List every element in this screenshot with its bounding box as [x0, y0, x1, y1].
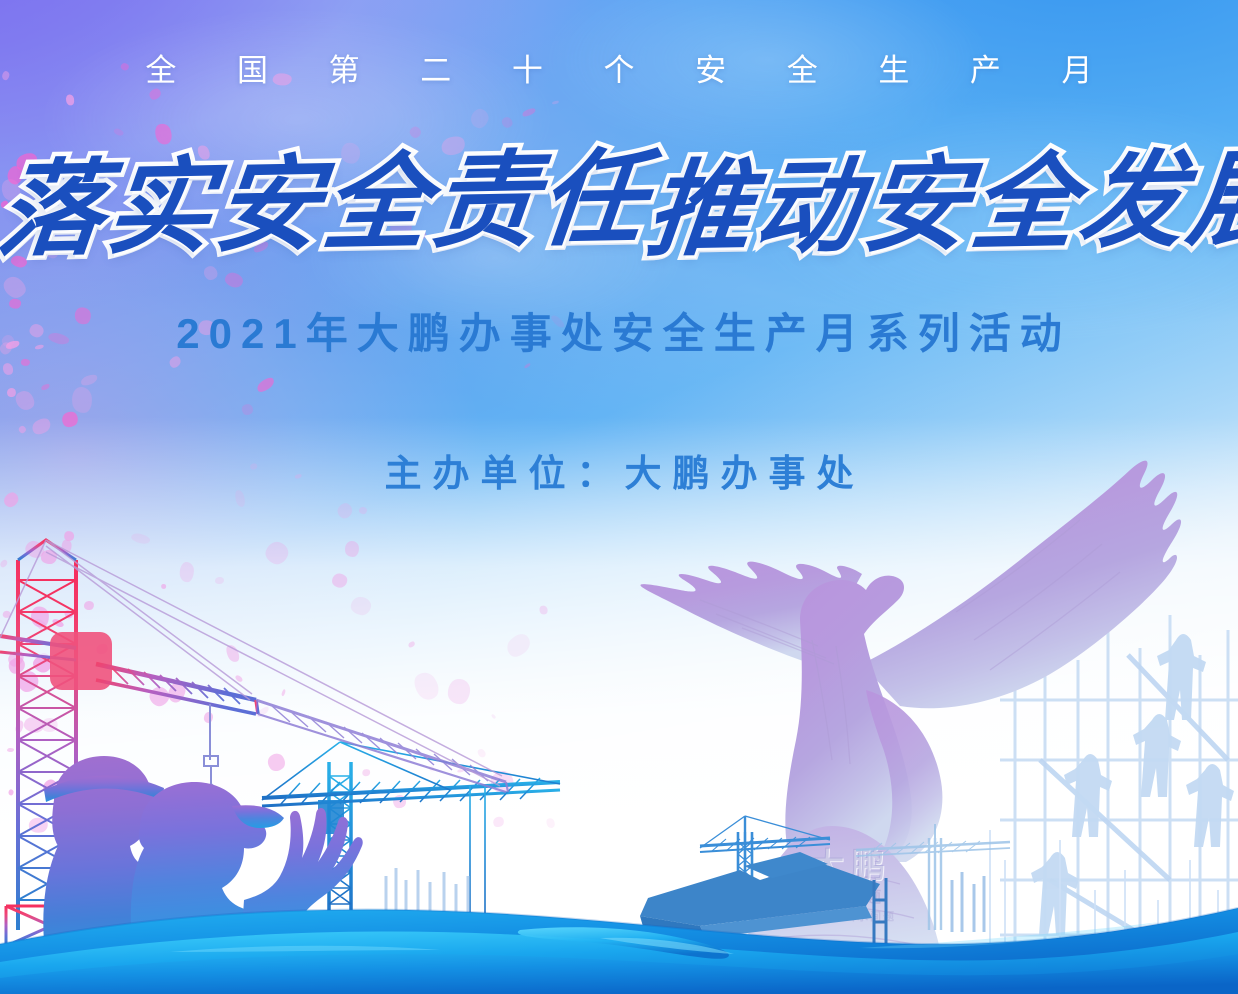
safety-month-poster: 大鹏 落笔大题 七色山水间题 [0, 0, 1238, 994]
subtitle-text: 2021年大鹏办事处安全生产月系列活动 [0, 300, 1238, 361]
headline-part-2: 推动安全发展 [642, 146, 1238, 262]
headline-block: 落实安全责任推动安全发展 [0, 152, 1238, 256]
organizer-text: 主办单位：大鹏办事处 [0, 443, 1238, 497]
poster-text-layer: 全 国 第 二 十 个 安 全 生 产 月 落实安全责任推动安全发展 2021年… [0, 0, 1238, 994]
kicker-text: 全 国 第 二 十 个 安 全 生 产 月 [0, 45, 1238, 90]
headline-part-1: 落实安全责任 [0, 146, 654, 262]
